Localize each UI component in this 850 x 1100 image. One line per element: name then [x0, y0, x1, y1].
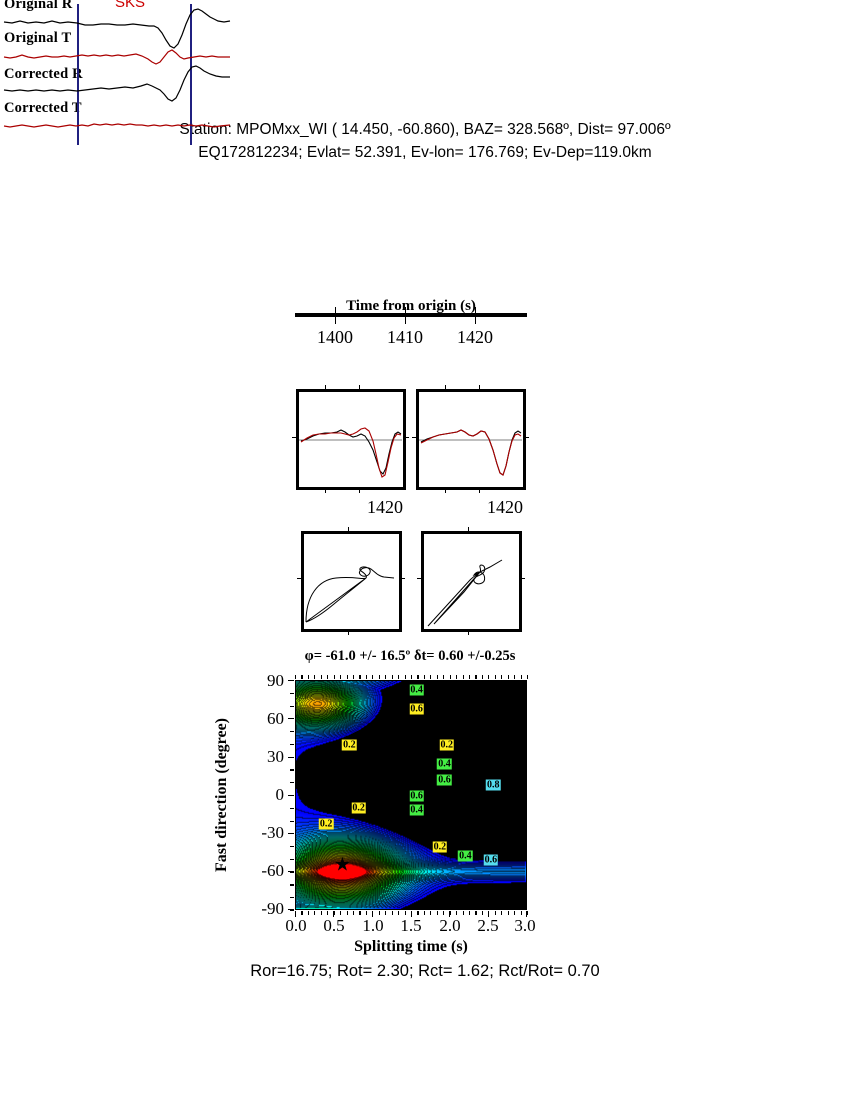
contour-xtick-minor-top: [463, 675, 464, 679]
contour-xtick-minor-top: [521, 675, 522, 679]
contour-xtick-minor: [385, 911, 386, 915]
box-tick: [325, 487, 326, 493]
contour-xtick-label-0: 0.0: [285, 916, 306, 936]
contour-xtick-minor-top: [372, 675, 373, 679]
fast-slow-waves-uncorrected: [299, 392, 402, 486]
contour-xtick-minor-top: [359, 675, 360, 679]
contour-xtick-minor-top: [411, 675, 412, 679]
contour-xtick-minor: [514, 911, 515, 915]
contour-ytick-minor: [290, 846, 294, 847]
contour-xtick-minor: [340, 911, 341, 915]
box-tick: [479, 385, 480, 391]
contour-xtick-minor-top: [321, 675, 322, 679]
contour-level-label: 0.6: [484, 855, 499, 866]
contour-xtick-minor-top: [488, 675, 489, 679]
contour-xtick-minor: [347, 911, 348, 915]
box-tick: [468, 629, 469, 635]
contour-xtick-minor: [398, 911, 399, 915]
contour-xtick-minor-top: [508, 675, 509, 679]
trace-original-t: [4, 50, 230, 64]
contour-xtick-minor: [405, 911, 406, 915]
contour-ytick-minor: [290, 795, 294, 796]
contour-xtick-minor: [334, 911, 335, 915]
contour-xtick-minor-top: [334, 675, 335, 679]
contour-xtick-label-25: 2.5: [477, 916, 498, 936]
trace-original-r: [4, 9, 230, 48]
contour-xtick-minor: [314, 911, 315, 915]
contour-ytick-minor: [290, 897, 294, 898]
fast-slow-waves-corrected: [419, 392, 522, 486]
contour-xtick-minor-top: [366, 675, 367, 679]
contour-xtick-minor: [372, 911, 373, 915]
contour-xtick-minor-top: [405, 675, 406, 679]
contour-xtick-minor: [321, 911, 322, 915]
contour-xtick-minor-top: [469, 675, 470, 679]
time-tick-mark-upper: [475, 307, 476, 313]
contour-xtick-minor: [366, 911, 367, 915]
contour-level-label: 0.4: [458, 850, 473, 861]
contour-xtick-label-10: 1.0: [362, 916, 383, 936]
contour-xtick-minor-top: [456, 675, 457, 679]
contour-xtick-minor: [437, 911, 438, 915]
contour-xtick-minor-top: [385, 675, 386, 679]
contour-ytick-minor: [290, 884, 294, 885]
contour-xtick-minor-top: [437, 675, 438, 679]
contour-level-label: 0.8: [486, 779, 501, 790]
time-axis-bar: [295, 313, 527, 317]
time-tick-mark: [405, 317, 406, 324]
contour-ytick-minor: [290, 833, 294, 834]
contour-xtick-minor: [392, 911, 393, 915]
fast-slow-panel-corrected: [416, 389, 526, 490]
contour-ytick-label-m60: -60: [242, 861, 284, 881]
contour-xtick-minor: [295, 911, 296, 915]
contour-ytick-label-30: 30: [248, 747, 284, 767]
particle-motion-curve-uncorrected: [304, 534, 398, 628]
box-tick: [445, 385, 446, 391]
box-tick: [479, 487, 480, 493]
contour-xtick-minor-top: [443, 675, 444, 679]
box-tick: [348, 527, 349, 533]
contour-ytick-minor: [290, 718, 294, 719]
contour-ytick-minor: [290, 769, 294, 770]
box-tick: [445, 487, 446, 493]
box-tick: [399, 578, 405, 579]
contour-xtick-minor-top: [450, 675, 451, 679]
contour-level-label: 0.2: [351, 802, 366, 813]
contour-level-label: 0.6: [409, 791, 424, 802]
particle-motion-panel-uncorrected: [301, 531, 402, 632]
contour-xtick-minor-top: [308, 675, 309, 679]
contour-level-label: 0.2: [342, 740, 357, 751]
box-tick: [297, 578, 303, 579]
contour-xtick-minor: [327, 911, 328, 915]
contour-xtick-minor: [488, 911, 489, 915]
time-tick-mark: [335, 317, 336, 324]
footer-statistics: Ror=16.75; Rot= 2.30; Rct= 1.62; Rct/Rot…: [0, 962, 850, 981]
contour-xtick-minor-top: [430, 675, 431, 679]
box-tick: [523, 437, 529, 438]
contour-level-label: 0.6: [437, 774, 452, 785]
energy-contour-plot[interactable]: 0.40.60.20.20.40.60.80.20.40.60.20.20.40…: [295, 680, 527, 910]
contour-xtick-minor-top: [514, 675, 515, 679]
box-tick: [359, 385, 360, 391]
fast-slow-xlabel-corrected: 1420: [487, 497, 523, 518]
contour-level-label: 0.2: [433, 841, 448, 852]
fast-slow-panel-uncorrected: [296, 389, 406, 490]
contour-xtick-minor: [353, 911, 354, 915]
box-tick: [468, 527, 469, 533]
trace-corrected-r: [4, 66, 230, 101]
contour-level-label: 0.4: [409, 685, 424, 696]
contour-ytick-minor: [290, 808, 294, 809]
contour-xtick-minor-top: [314, 675, 315, 679]
contour-ytick-minor: [290, 910, 294, 911]
time-tick-label-1420: 1420: [457, 327, 493, 348]
contour-ytick-label-m90: -90: [242, 899, 284, 919]
contour-xtick-minor-top: [501, 675, 502, 679]
contour-level-label: 0.2: [319, 818, 334, 829]
contour-xtick-minor-top: [527, 675, 528, 679]
contour-xtick-minor: [469, 911, 470, 915]
contour-xtick-minor: [417, 911, 418, 915]
contour-xtick-minor-top: [301, 675, 302, 679]
waveform-traces: [0, 0, 232, 145]
contour-xtick-minor-top: [417, 675, 418, 679]
contour-ytick-minor: [290, 706, 294, 707]
contour-xtick-minor: [308, 911, 309, 915]
contour-level-label: 0.6: [409, 703, 424, 714]
contour-xtick-minor: [521, 911, 522, 915]
time-tick-mark-upper: [405, 307, 406, 313]
contour-xtick-minor: [301, 911, 302, 915]
contour-xtick-minor-top: [379, 675, 380, 679]
time-tick-label-1400: 1400: [317, 327, 353, 348]
contour-ytick-minor: [290, 744, 294, 745]
contour-ytick-minor: [290, 757, 294, 758]
contour-ytick-minor: [290, 859, 294, 860]
contour-xtick-minor: [411, 911, 412, 915]
contour-ytick-minor: [290, 821, 294, 822]
contour-xtick-minor-top: [424, 675, 425, 679]
particle-motion-curve-corrected: [424, 534, 518, 628]
contour-xtick-label-15: 1.5: [400, 916, 421, 936]
contour-ytick-minor: [290, 693, 294, 694]
contour-ytick-minor: [290, 872, 294, 873]
contour-ytick-label-90: 90: [248, 671, 284, 691]
box-tick: [348, 629, 349, 635]
box-tick: [519, 578, 525, 579]
contour-xtick-minor: [450, 911, 451, 915]
contour-ytick-minor: [290, 731, 294, 732]
contour-xtick-minor: [443, 911, 444, 915]
contour-xtick-minor: [359, 911, 360, 915]
contour-xtick-minor: [527, 911, 528, 915]
box-tick: [325, 385, 326, 391]
contour-xtick-minor: [379, 911, 380, 915]
box-tick: [403, 437, 409, 438]
waveform-panel: Original R Original T Corrected R Correc…: [0, 0, 232, 145]
box-tick: [412, 437, 418, 438]
contour-level-label: 0.4: [409, 804, 424, 815]
contour-xtick-minor-top: [475, 675, 476, 679]
contour-ylabel: Fast direction (degree): [213, 718, 231, 872]
contour-ytick-minor: [290, 782, 294, 783]
fast-slow-xlabel-uncorrected: 1420: [367, 497, 403, 518]
contour-xtick-minor-top: [482, 675, 483, 679]
box-tick: [359, 487, 360, 493]
contour-xtick-minor: [463, 911, 464, 915]
contour-xtick-minor-top: [347, 675, 348, 679]
contour-xtick-minor-top: [340, 675, 341, 679]
time-tick-mark-upper: [335, 307, 336, 313]
time-tick-mark: [475, 317, 476, 324]
contour-xtick-minor: [424, 911, 425, 915]
box-tick: [292, 437, 298, 438]
contour-xtick-minor: [508, 911, 509, 915]
contour-xtick-minor-top: [398, 675, 399, 679]
contour-xtick-minor: [495, 911, 496, 915]
contour-xtick-minor: [475, 911, 476, 915]
contour-xtick-label-30: 3.0: [514, 916, 535, 936]
contour-xtick-minor-top: [392, 675, 393, 679]
contour-plot-title: φ= -61.0 +/- 16.5º δt= 0.60 +/-0.25s: [235, 648, 585, 665]
contour-xtick-minor-top: [327, 675, 328, 679]
contour-ytick-label-60: 60: [248, 709, 284, 729]
contour-ytick-label-m30: -30: [242, 823, 284, 843]
contour-level-label: 0.2: [440, 740, 455, 751]
optimum-star-marker: ★: [334, 856, 351, 875]
contour-xlabel: Splitting time (s): [295, 938, 527, 956]
particle-motion-panel-corrected: [421, 531, 522, 632]
contour-ytick-label-0: 0: [248, 785, 284, 805]
contour-xtick-minor-top: [495, 675, 496, 679]
contour-xtick-minor-top: [353, 675, 354, 679]
time-tick-label-1410: 1410: [387, 327, 423, 348]
contour-xtick-label-20: 2.0: [439, 916, 460, 936]
contour-level-label: 0.4: [437, 758, 452, 769]
contour-xtick-label-05: 0.5: [323, 916, 344, 936]
contour-xtick-minor: [430, 911, 431, 915]
contour-xtick-minor-top: [295, 675, 296, 679]
box-tick: [417, 578, 423, 579]
contour-xtick-minor: [482, 911, 483, 915]
contour-xtick-minor: [501, 911, 502, 915]
trace-corrected-t: [4, 124, 230, 127]
contour-ytick-minor: [290, 680, 294, 681]
contour-xtick-minor: [456, 911, 457, 915]
